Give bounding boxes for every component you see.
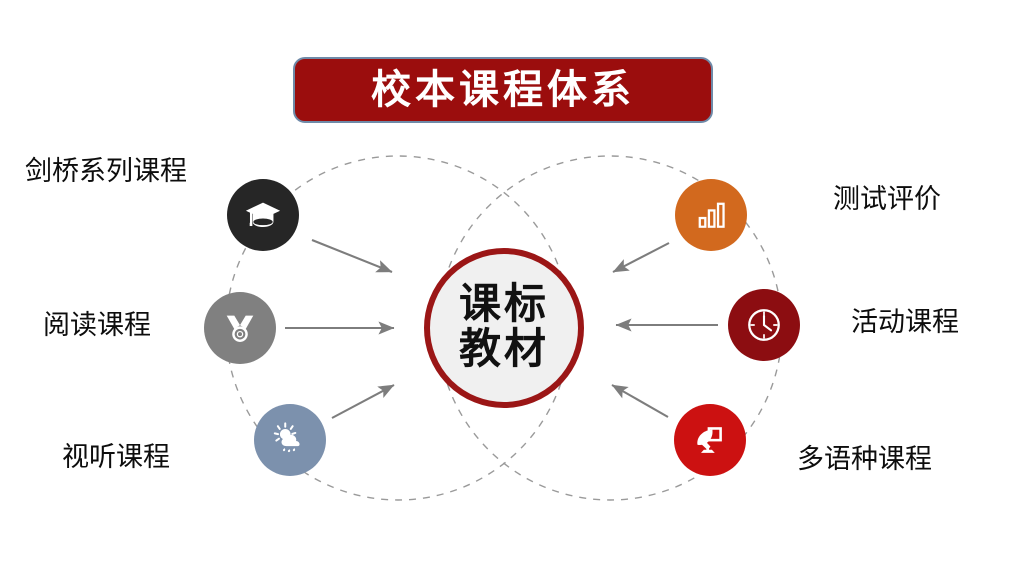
label-multilingual-course: 多语种课程 — [797, 446, 932, 473]
title-banner: 校本课程体系 — [293, 57, 713, 123]
medal-icon — [221, 309, 259, 347]
graduation-cap-icon — [244, 196, 282, 234]
label-reading-course: 阅读课程 — [43, 312, 151, 339]
label-cambridge-series-course: 剑桥系列课程 — [25, 158, 187, 185]
center-hub-line-1: 课标 — [459, 283, 549, 328]
weather-sun-cloud-rain-icon — [271, 421, 309, 459]
node-cambridge-series-course[interactable] — [227, 179, 299, 251]
arrow-testeval-to-center — [613, 243, 669, 272]
node-reading-course[interactable] — [204, 292, 276, 364]
center-hub: 课标 教材 — [424, 248, 584, 408]
arrow-multilingual-to-center — [612, 385, 668, 417]
diagram-canvas: 校本课程体系 课标 教材 — [0, 0, 1021, 571]
label-audio-visual-course: 视听课程 — [62, 444, 170, 471]
center-hub-line-2: 教材 — [459, 328, 549, 373]
page-title: 校本课程体系 — [371, 70, 635, 110]
arrow-cambridge-to-center — [312, 240, 392, 272]
label-test-evaluation: 测试评价 — [833, 186, 941, 213]
node-test-evaluation[interactable] — [675, 179, 747, 251]
node-audio-visual-course[interactable] — [254, 404, 326, 476]
node-activity-course[interactable] — [728, 289, 800, 361]
bar-chart-icon — [692, 196, 730, 234]
label-activity-course: 活动课程 — [851, 309, 959, 336]
clock-icon — [745, 306, 783, 344]
arrow-audiovisual-to-center — [332, 385, 394, 418]
node-multilingual-course[interactable] — [674, 404, 746, 476]
satellite-dish-icon — [691, 421, 729, 459]
